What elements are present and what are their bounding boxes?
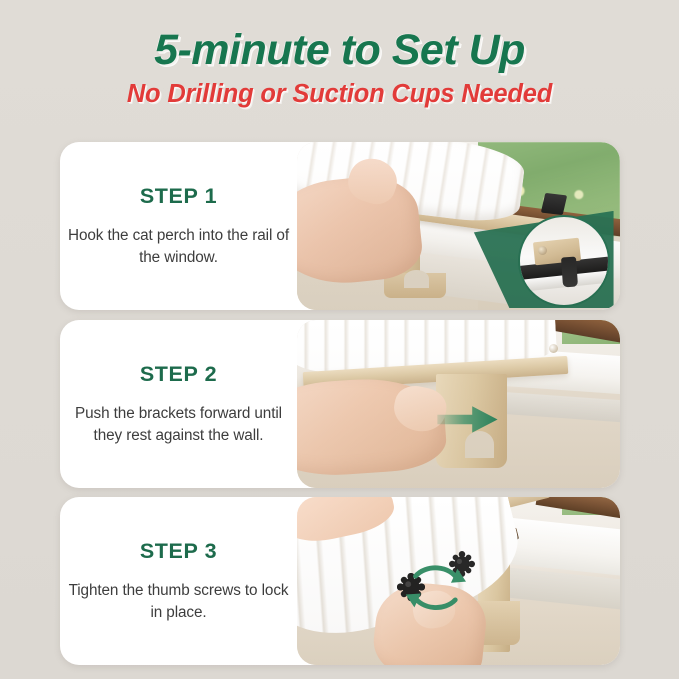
step-2-label: STEP 2 [140,362,217,387]
rotate-direction-arrows-icon [381,544,491,625]
page-subtitle: No Drilling or Suction Cups Needed [0,80,679,109]
step-1-label: STEP 1 [140,184,217,209]
photo-1-detail-inset [518,215,610,307]
step-card-2: STEP 2 Push the brackets forward until t… [60,320,620,488]
photo-1-bracket-clip [541,193,567,215]
step-1-photo [297,142,620,310]
infographic-page: 5-minute to Set Up No Drilling or Suctio… [0,0,679,679]
push-direction-arrow-icon [426,401,510,438]
photo-2-screw-right [549,344,558,353]
step-3-text-block: STEP 3 Tighten the thumb screws to lock … [60,497,297,665]
step-3-label: STEP 3 [140,539,217,564]
step-card-3: STEP 3 Tighten the thumb screws to lock … [60,497,620,665]
step-2-text-block: STEP 2 Push the brackets forward until t… [60,320,297,488]
inset-hook-bracket [561,257,578,288]
step-2-photo [297,320,620,488]
page-title: 5-minute to Set Up [0,28,679,73]
photo-1-hook-notch [404,270,430,288]
inset-screw-icon [538,246,547,255]
step-3-photo [297,497,620,665]
step-card-1: STEP 1 Hook the cat perch into the rail … [60,142,620,310]
step-1-description: Hook the cat perch into the rail of the … [66,225,291,268]
step-3-description: Tighten the thumb screws to lock in plac… [66,580,291,623]
step-2-description: Push the brackets forward until they res… [66,403,291,446]
step-1-text-block: STEP 1 Hook the cat perch into the rail … [60,142,297,310]
header: 5-minute to Set Up No Drilling or Suctio… [0,28,679,109]
